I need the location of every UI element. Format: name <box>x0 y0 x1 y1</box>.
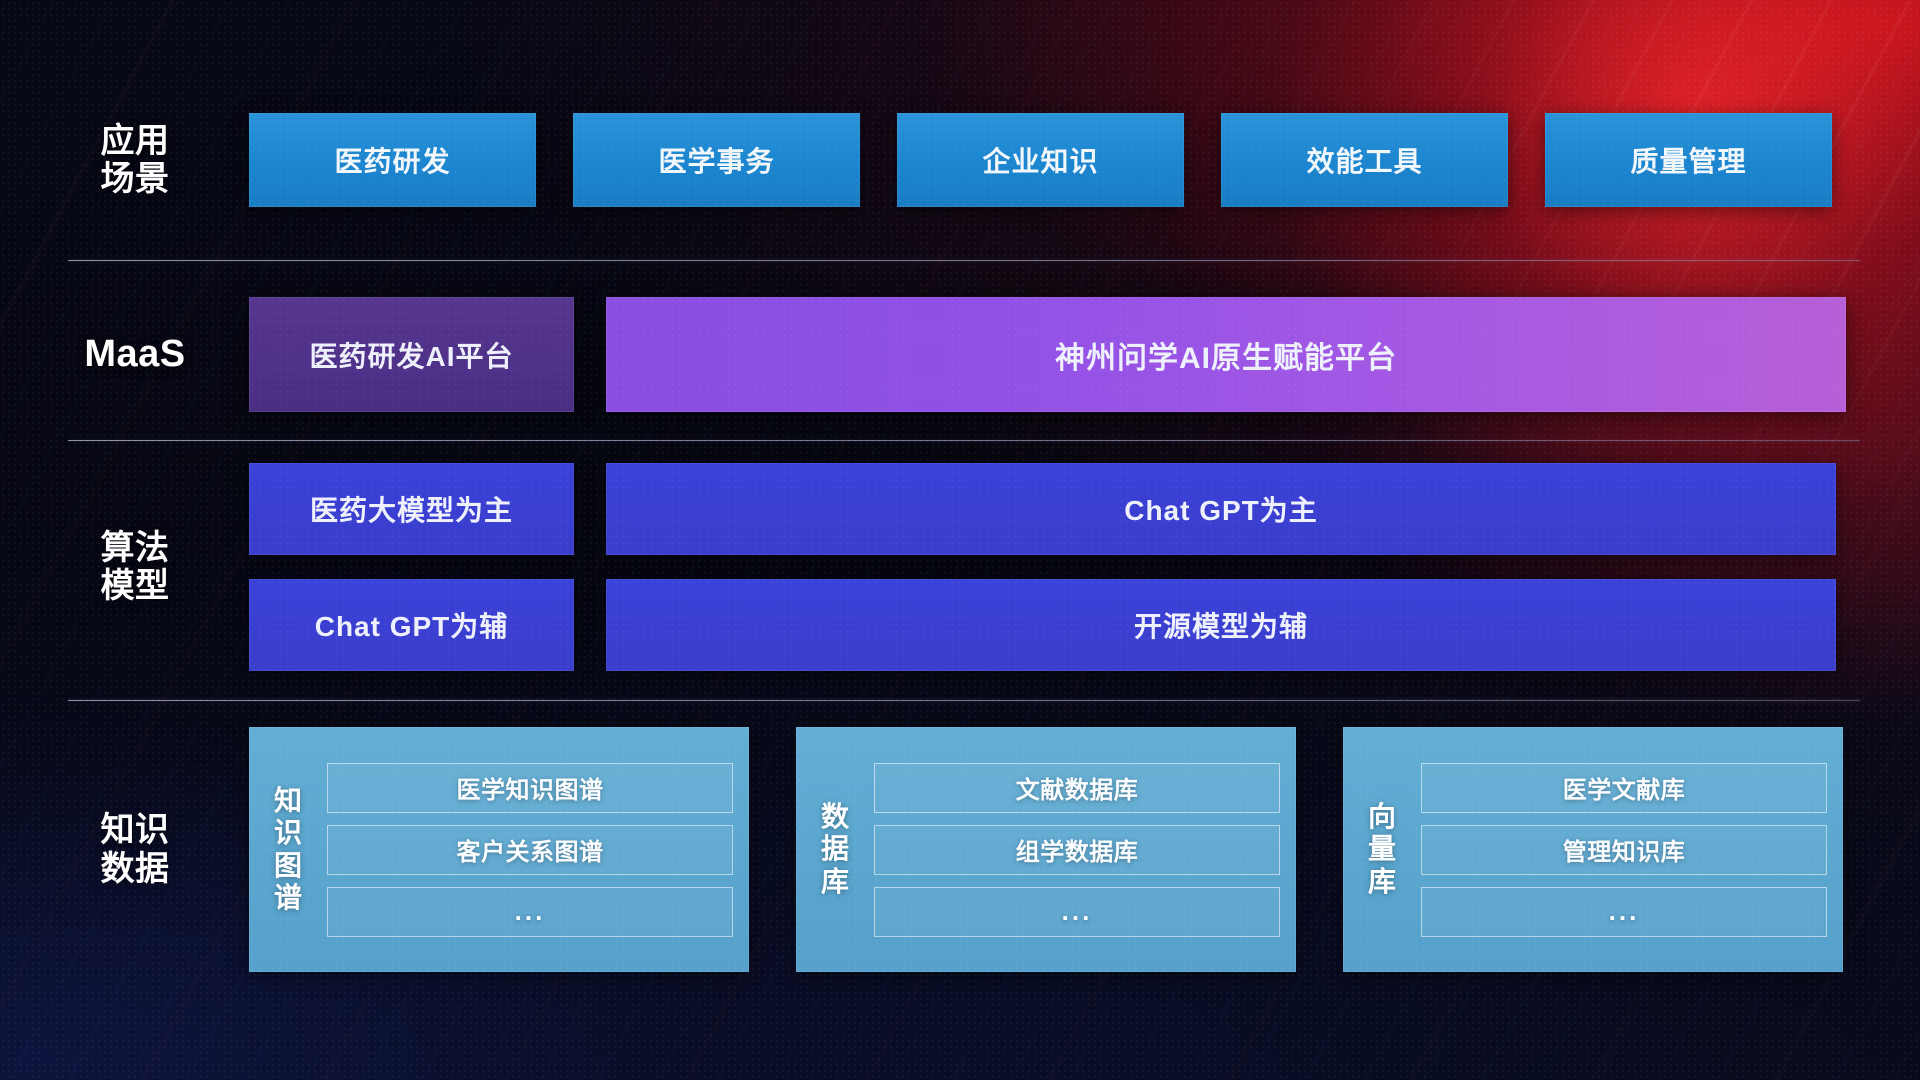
row-label-line2: 场景 <box>60 160 210 198</box>
architecture-diagram: 应用 场景 医药研发 医学事务 企业知识 效能工具 质量管理 MaaS 医药研发… <box>0 0 1920 1080</box>
knowledge-item-literature-database[interactable]: 文献数据库 <box>874 763 1280 813</box>
maas-box-shenzhou-wenxue-platform[interactable]: 神州问学AI原生赋能平台 <box>606 297 1846 412</box>
knowledge-group-knowledge-graph[interactable]: 知 识 图 谱 医学知识图谱 客户关系图谱 ... <box>249 727 749 972</box>
row-label-algorithm-model: 算法 模型 <box>60 529 210 605</box>
knowledge-item-management-knowledge-library[interactable]: 管理知识库 <box>1421 825 1827 875</box>
row-knowledge-data: 知识 数据 知 识 图 谱 医学知识图谱 客户关系图谱 ... <box>60 727 1860 972</box>
vertical-char: 识 <box>274 817 302 849</box>
algo-box-chatgpt-primary[interactable]: Chat GPT为主 <box>606 463 1836 555</box>
app-box-medicine-rd[interactable]: 医药研发 <box>249 113 536 207</box>
vertical-char: 量 <box>1368 833 1396 865</box>
maas-box-medicine-rd-ai-platform[interactable]: 医药研发AI平台 <box>249 297 574 412</box>
algo-box-opensource-model-secondary[interactable]: 开源模型为辅 <box>606 579 1836 671</box>
knowledge-item-medical-knowledge-graph[interactable]: 医学知识图谱 <box>327 763 733 813</box>
algo-box-chatgpt-secondary[interactable]: Chat GPT为辅 <box>249 579 574 671</box>
vertical-char: 库 <box>1368 866 1396 898</box>
row-algorithm-model: 算法 模型 医药大模型为主 Chat GPT为主 Chat GPT为辅 开源模型… <box>60 462 1860 672</box>
vertical-char: 库 <box>821 866 849 898</box>
knowledge-group-label-vector-database: 向 量 库 <box>1343 727 1421 972</box>
row-application-scenarios: 应用 场景 医药研发 医学事务 企业知识 效能工具 质量管理 <box>60 100 1860 220</box>
knowledge-group-vector-database[interactable]: 向 量 库 医学文献库 管理知识库 ... <box>1343 727 1843 972</box>
divider-2 <box>68 440 1860 441</box>
app-box-efficiency-tools[interactable]: 效能工具 <box>1221 113 1508 207</box>
app-box-enterprise-knowledge[interactable]: 企业知识 <box>897 113 1184 207</box>
vertical-char: 向 <box>1368 801 1396 833</box>
app-box-quality-management[interactable]: 质量管理 <box>1545 113 1832 207</box>
divider-3 <box>68 700 1860 701</box>
row-label-line2: 模型 <box>60 567 210 605</box>
vertical-char: 谱 <box>274 882 302 914</box>
row-label-line2: 数据 <box>60 850 210 888</box>
knowledge-item-more[interactable]: ... <box>874 887 1280 937</box>
knowledge-group-database[interactable]: 数 据 库 文献数据库 组学数据库 ... <box>796 727 1296 972</box>
knowledge-item-omics-database[interactable]: 组学数据库 <box>874 825 1280 875</box>
knowledge-group-label-knowledge-graph: 知 识 图 谱 <box>249 727 327 972</box>
knowledge-item-more[interactable]: ... <box>327 887 733 937</box>
divider-1 <box>68 260 1860 261</box>
row-label-knowledge-data: 知识 数据 <box>60 811 210 887</box>
vertical-char: 图 <box>274 850 302 882</box>
knowledge-item-customer-relation-graph[interactable]: 客户关系图谱 <box>327 825 733 875</box>
row-label-line1: 知识 <box>60 811 210 849</box>
vertical-char: 知 <box>274 785 302 817</box>
row-label-line1: 算法 <box>60 529 210 567</box>
row-label-line1: 应用 <box>60 122 210 160</box>
row-label-application-scenarios: 应用 场景 <box>60 122 210 198</box>
knowledge-item-more[interactable]: ... <box>1421 887 1827 937</box>
row-label-maas: MaaS <box>60 333 210 376</box>
knowledge-group-label-database: 数 据 库 <box>796 727 874 972</box>
vertical-char: 据 <box>821 833 849 865</box>
algo-box-medicine-large-model-primary[interactable]: 医药大模型为主 <box>249 463 574 555</box>
app-box-medical-affairs[interactable]: 医学事务 <box>573 113 860 207</box>
vertical-char: 数 <box>821 801 849 833</box>
row-maas: MaaS 医药研发AI平台 神州问学AI原生赋能平台 <box>60 287 1860 422</box>
knowledge-item-medical-literature-library[interactable]: 医学文献库 <box>1421 763 1827 813</box>
